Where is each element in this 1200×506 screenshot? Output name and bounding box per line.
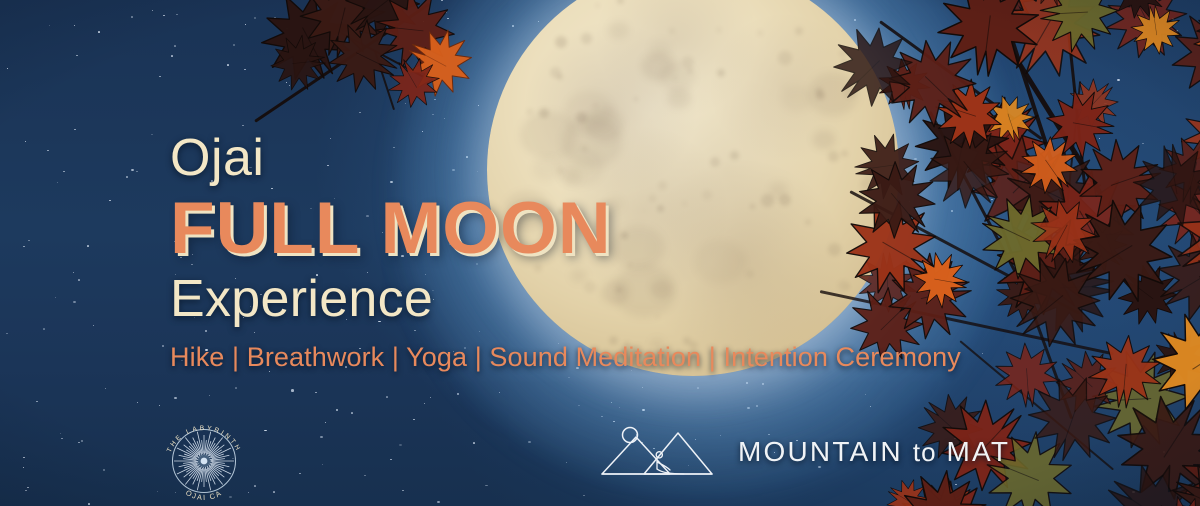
eyebrow-text: Ojai — [170, 132, 961, 184]
wordmark-to: to — [913, 437, 937, 467]
mountain-to-mat-wordmark: MOUNTAIN to MAT — [738, 436, 1010, 468]
wordmark-part1: MOUNTAIN — [738, 436, 903, 467]
poster-copy: Ojai FULL MOON Experience Hike | Breathw… — [170, 132, 961, 372]
mountain-meditation-icon — [600, 424, 720, 480]
wordmark-part2: MAT — [947, 436, 1011, 467]
page-title: FULL MOON — [170, 192, 961, 266]
mountain-to-mat-logo[interactable]: MOUNTAIN to MAT — [600, 421, 1010, 483]
labyrinth-logo[interactable]: THE LABYRINTH OJAI CA — [158, 418, 250, 504]
labyrinth-logo-icon: THE LABYRINTH OJAI CA — [158, 418, 250, 504]
svg-text:OJAI CA: OJAI CA — [184, 488, 224, 502]
activities-list: Hike | Breathwork | Yoga | Sound Meditat… — [170, 342, 961, 372]
labyrinth-arc-bottom: OJAI CA — [184, 488, 224, 502]
full-moon-event-banner: Ojai FULL MOON Experience Hike | Breathw… — [0, 0, 1200, 506]
subheadline-text: Experience — [170, 272, 961, 326]
